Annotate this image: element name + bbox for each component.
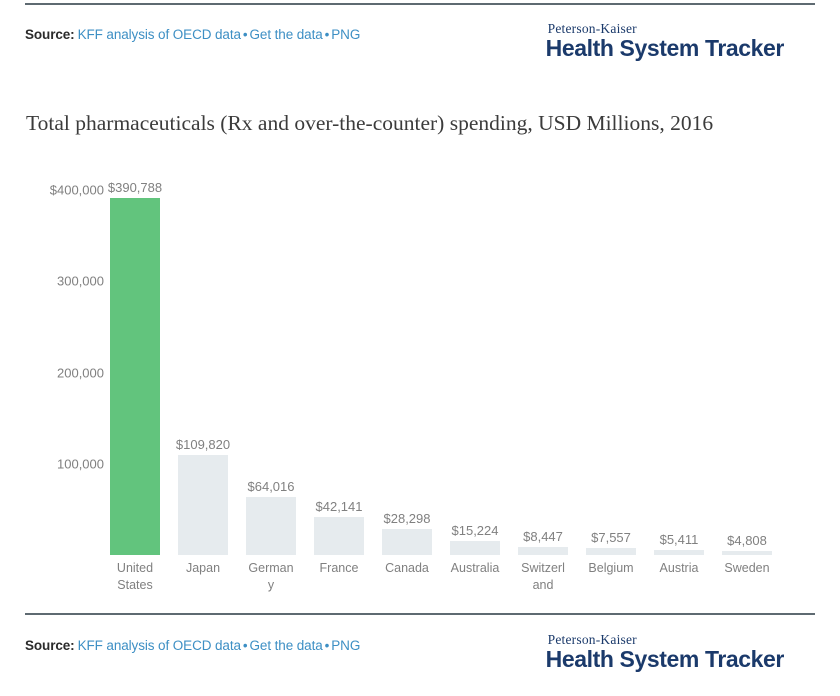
bar[interactable] [314, 517, 364, 555]
y-axis: $400,000300,000200,000100,000 [0, 190, 104, 555]
y-axis-tick: 100,000 [57, 456, 104, 471]
bar-chart: $400,000300,000200,000100,000 $390,788$1… [0, 190, 840, 610]
footer-logo-health-system-tracker: Health System Tracker [546, 647, 784, 672]
bar[interactable] [110, 198, 160, 555]
bar-column[interactable]: $28,298 [382, 190, 432, 555]
footer-link-kff-analysis[interactable]: KFF analysis of OECD data [78, 638, 241, 653]
x-axis-category-label: Germany [246, 560, 296, 594]
bar-value-label: $42,141 [316, 499, 363, 514]
y-axis-tick: $400,000 [50, 183, 104, 198]
bar[interactable] [722, 551, 772, 555]
bar-value-label: $7,557 [591, 530, 631, 545]
bar[interactable] [178, 455, 228, 555]
bar-value-label: $8,447 [523, 529, 563, 544]
header-separator-1: • [241, 27, 250, 42]
footer-logo-peterson-kaiser: Peterson-Kaiser [548, 632, 784, 647]
x-axis-category-label: Switzerland [518, 560, 568, 594]
footer-source-line: Source:KFF analysis of OECD data•Get the… [25, 638, 360, 653]
footer-link-get-the-data[interactable]: Get the data [250, 638, 323, 653]
x-axis-category-label: Canada [382, 560, 432, 594]
bar[interactable] [450, 541, 500, 555]
bar-column[interactable]: $4,808 [722, 190, 772, 555]
x-axis-categories: United StatesJapanGermanyFranceCanadaAus… [110, 560, 786, 594]
footer-separator-1: • [241, 638, 250, 653]
bar[interactable] [586, 548, 636, 555]
footer-source-label: Source: [25, 638, 75, 653]
x-axis-category-label: Japan [178, 560, 228, 594]
bar-column[interactable]: $42,141 [314, 190, 364, 555]
bottom-divider [25, 613, 815, 615]
header-logo-peterson-kaiser: Peterson-Kaiser [548, 21, 784, 36]
header-link-get-the-data[interactable]: Get the data [250, 27, 323, 42]
footer-separator-2: • [323, 638, 332, 653]
top-divider [25, 3, 815, 5]
bar-column[interactable]: $8,447 [518, 190, 568, 555]
bar-value-label: $109,820 [176, 437, 230, 452]
bar-value-label: $64,016 [248, 479, 295, 494]
header-source-label: Source: [25, 27, 75, 42]
bar[interactable] [382, 529, 432, 555]
y-axis-tick: 300,000 [57, 274, 104, 289]
chart-title: Total pharmaceuticals (Rx and over-the-c… [26, 108, 801, 138]
chart-page: Source:KFF analysis of OECD data•Get the… [0, 0, 840, 696]
y-axis-tick: 200,000 [57, 365, 104, 380]
header-separator-2: • [323, 27, 332, 42]
x-axis-category-label: United States [110, 560, 160, 594]
bar-column[interactable]: $7,557 [586, 190, 636, 555]
bar-value-label: $4,808 [727, 533, 767, 548]
x-axis-category-label: France [314, 560, 364, 594]
header-logo-health-system-tracker: Health System Tracker [546, 36, 784, 61]
footer-link-png[interactable]: PNG [331, 638, 360, 653]
header-link-kff-analysis[interactable]: KFF analysis of OECD data [78, 27, 241, 42]
x-axis-category-label: Sweden [722, 560, 772, 594]
bar-column[interactable]: $390,788 [110, 190, 160, 555]
x-axis-category-label: Australia [450, 560, 500, 594]
bar-value-label: $15,224 [452, 523, 499, 538]
bar-value-label: $28,298 [384, 511, 431, 526]
bar-value-label: $5,411 [660, 532, 699, 547]
bar-column[interactable]: $5,411 [654, 190, 704, 555]
bar-column[interactable]: $109,820 [178, 190, 228, 555]
bar[interactable] [246, 497, 296, 555]
bar-column[interactable]: $64,016 [246, 190, 296, 555]
bar-value-label: $390,788 [108, 180, 162, 195]
header-logo[interactable]: Peterson-Kaiser Health System Tracker [546, 21, 784, 61]
footer-logo[interactable]: Peterson-Kaiser Health System Tracker [546, 632, 784, 672]
x-axis-category-label: Belgium [586, 560, 636, 594]
bar-column[interactable]: $15,224 [450, 190, 500, 555]
header-link-png[interactable]: PNG [331, 27, 360, 42]
x-axis-category-label: Austria [654, 560, 704, 594]
plot-area: $390,788$109,820$64,016$42,141$28,298$15… [110, 190, 786, 555]
bar[interactable] [518, 547, 568, 555]
bar-series: $390,788$109,820$64,016$42,141$28,298$15… [110, 190, 786, 555]
bar[interactable] [654, 550, 704, 555]
header-source-line: Source:KFF analysis of OECD data•Get the… [25, 27, 360, 42]
